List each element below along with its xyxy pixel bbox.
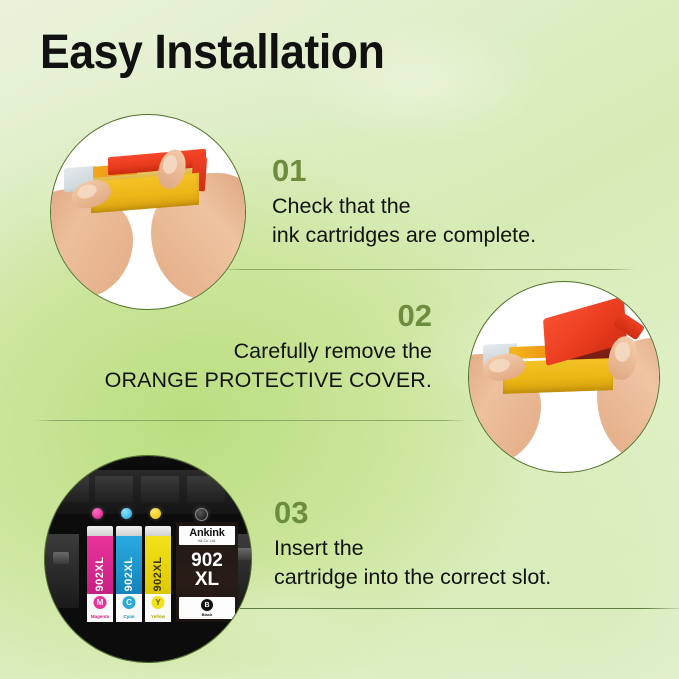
easy-installation-poster: Easy Installation 01 Check that the ink … [0, 0, 679, 679]
magenta-cartridge: 902XL M Magenta [87, 526, 113, 622]
bay-icon-4 [187, 476, 225, 502]
page-title: Easy Installation [40, 28, 384, 78]
step-1-line-1: Check that the [272, 192, 536, 221]
step-3-number: 03 [274, 497, 551, 528]
step-2-line-1: Carefully remove the [12, 337, 432, 366]
bay-icon-1 [51, 476, 89, 502]
magenta-badge-label: Magenta [87, 614, 113, 619]
cyan-cartridge: 902XL C Cyan [116, 526, 142, 622]
black-cartridge: Ankink Ink Co. Ltd. 902 XL B Black [176, 522, 238, 622]
step-3-photo: 902XL M Magenta 902XL C Cyan 902XL [44, 455, 252, 663]
step-2-number: 02 [12, 300, 432, 331]
cyan-badge-label: Cyan [116, 614, 142, 619]
step-3-text-block: 03 Insert the cartridge into the correct… [274, 497, 551, 592]
yellow-badge-label: Yellow [145, 614, 171, 619]
magenta-cartridge-footer: M Magenta [87, 594, 113, 622]
step-1-line-2: ink cartridges are complete. [272, 221, 536, 250]
black-cartridge-brand-label: Ankink Ink Co. Ltd. [179, 526, 235, 545]
step-3-line-1: Insert the [274, 534, 551, 563]
step-1-photo [50, 114, 246, 310]
step-1-text-block: 01 Check that the ink cartridges are com… [272, 155, 536, 250]
brand-tagline: Ink Co. Ltd. [198, 540, 217, 543]
divider-after-step-2 [34, 420, 466, 421]
brand-name: Ankink [189, 528, 224, 539]
black-indicator-icon [195, 508, 208, 521]
step-2-line-2: ORANGE PROTECTIVE COVER. [12, 366, 432, 395]
black-cartridge-footer: B Black [179, 597, 235, 619]
cyan-cartridge-footer: C Cyan [116, 594, 142, 622]
bay-icon-3 [141, 476, 179, 502]
yellow-cartridge-cap [145, 526, 171, 536]
step-2-text-block: 02 Carefully remove the ORANGE PROTECTIV… [12, 300, 432, 395]
step-2-photo [468, 281, 660, 473]
divider-after-step-3 [240, 608, 679, 609]
model-number: 902 [191, 550, 223, 571]
cyan-indicator-icon [121, 508, 132, 519]
magenta-cartridge-label: 902XL [94, 557, 106, 592]
yellow-badge: Y [152, 596, 165, 609]
cyan-cartridge-label: 902XL [123, 557, 135, 592]
black-badge-label: Black [202, 612, 213, 617]
magenta-badge: M [94, 596, 107, 609]
step-3-line-2: cartridge into the correct slot. [274, 563, 551, 592]
cyan-cartridge-cap [116, 526, 142, 536]
yellow-cartridge: 902XL Y Yellow [145, 526, 171, 622]
step-1-number: 01 [272, 155, 536, 186]
cyan-badge: C [123, 596, 136, 609]
divider-after-step-1 [218, 269, 636, 270]
yellow-indicator-icon [150, 508, 161, 519]
yellow-cartridge-label: 902XL [152, 557, 164, 592]
black-cartridge-model: 902 XL [176, 552, 238, 589]
magenta-cartridge-cap [87, 526, 113, 536]
magenta-indicator-icon [92, 508, 103, 519]
model-suffix: XL [176, 571, 238, 590]
black-badge: B [201, 599, 213, 611]
yellow-cartridge-footer: Y Yellow [145, 594, 171, 622]
carriage-tab-left [53, 552, 69, 564]
bay-icon-2 [95, 476, 133, 502]
carriage-rail-left [45, 534, 79, 608]
